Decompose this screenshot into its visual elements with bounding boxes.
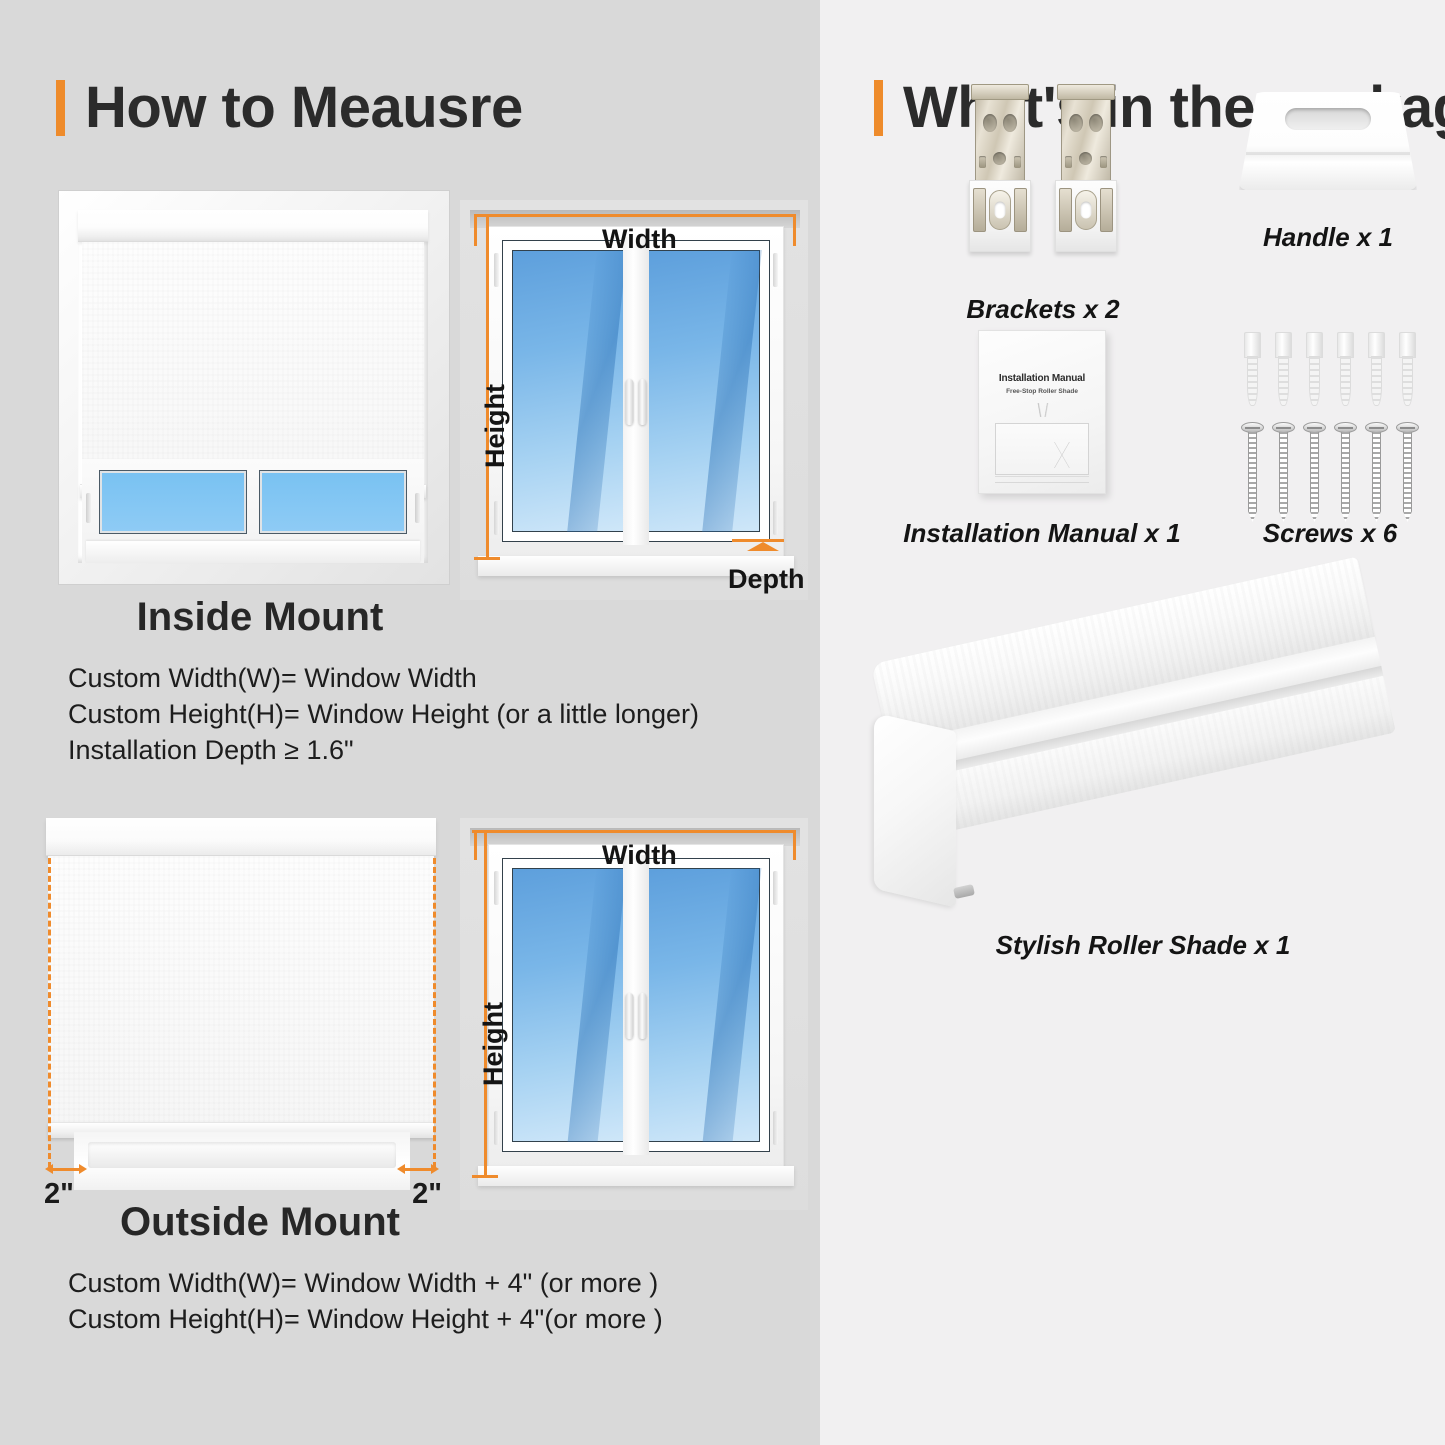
- screw-icon: [1368, 422, 1385, 522]
- window-hinge-bottom-right: [773, 1111, 778, 1145]
- window-sash-right: [260, 471, 406, 533]
- width-tick-left: [474, 214, 477, 246]
- window-handles: [626, 379, 647, 425]
- shade-fabric: [82, 242, 424, 484]
- shade-cassette: [46, 818, 436, 856]
- window-sash-left: [503, 241, 635, 541]
- wall-anchor-icon: [1399, 332, 1416, 406]
- instruction-line: Custom Height(H)= Window Height + 4"(or …: [68, 1301, 820, 1337]
- window-handles: [626, 993, 647, 1039]
- window-hinge-bottom-left: [494, 1111, 499, 1145]
- shade-fabric: [48, 856, 434, 1128]
- width-measure-line: [474, 830, 796, 833]
- depth-label: Depth: [728, 564, 805, 595]
- glass-reflection: [702, 868, 760, 1142]
- inside-mount-title: Inside Mount: [40, 595, 480, 640]
- bracket-icon: [969, 84, 1031, 252]
- width-tick-left: [474, 830, 477, 860]
- accent-bar: [56, 80, 65, 136]
- window-sash-left: [100, 471, 246, 533]
- height-tick-bottom: [474, 557, 500, 560]
- handle-label: Handle x 1: [1188, 222, 1445, 253]
- package-contents-panel: What's in the package: [838, 0, 1445, 1445]
- overhang-guide-left: [48, 858, 51, 1168]
- window-hinge-top-left: [494, 871, 499, 905]
- screws-label: Screws x 6: [1190, 518, 1445, 549]
- window-hinge-top-right: [773, 871, 778, 905]
- screw-icon: [1244, 422, 1261, 522]
- visible-window-glass: [82, 459, 424, 563]
- height-tick-top: [472, 830, 498, 833]
- bracket-icon: [1055, 84, 1117, 252]
- overhang-label-left: 2": [44, 1178, 74, 1211]
- window-sash-right: [637, 859, 769, 1151]
- window-sill: [478, 1166, 794, 1186]
- how-to-measure-panel: How to Meausre: [0, 0, 820, 1445]
- overhang-guide-right: [433, 858, 436, 1168]
- overhang-arrow-right: [404, 1168, 432, 1171]
- outside-mount-section: 2" 2": [0, 800, 820, 1337]
- inside-mount-section: Width Height Depth Inside Mount Custom W…: [0, 190, 820, 768]
- outside-mount-shade-illustration: 2" 2": [34, 818, 446, 1190]
- window-sash-right: [637, 241, 769, 541]
- window-hinge-top-left: [494, 253, 499, 287]
- instruction-line: Custom Width(W)= Window Width: [68, 660, 820, 696]
- wall-anchor-icon: [1306, 332, 1323, 406]
- infographic-page: How to Meausre: [0, 0, 1445, 1445]
- handle-icon: [1239, 92, 1417, 190]
- width-measure-line: [474, 214, 796, 217]
- panel-divider: [820, 0, 838, 1445]
- window-hinge-top-right: [773, 253, 778, 287]
- window-opening: [78, 210, 428, 563]
- outside-mount-instructions: Custom Width(W)= Window Width + 4" (or m…: [68, 1265, 820, 1337]
- anchors-group: [1190, 330, 1445, 406]
- manual-cover-scribble: [1009, 403, 1075, 417]
- instruction-line: Installation Depth ≥ 1.6": [68, 732, 820, 768]
- package-item-handle: Handle x 1: [1188, 92, 1445, 322]
- roller-end-pin: [953, 884, 975, 899]
- brackets-group: [898, 80, 1188, 252]
- screw-icon: [1275, 422, 1292, 522]
- glass-reflection: [702, 250, 761, 532]
- height-tick-bottom: [472, 1175, 498, 1178]
- depth-arrow: [747, 542, 779, 551]
- wall-anchor-icon: [1275, 332, 1292, 406]
- accent-bar: [874, 80, 883, 136]
- package-item-manual: Installation Manual Free-Stop Roller Sha…: [896, 330, 1188, 580]
- wall-anchor-icon: [1368, 332, 1385, 406]
- manual-cover-footer-text: [995, 471, 1089, 485]
- window-hinge-bottom-left: [494, 501, 499, 535]
- width-tick-right: [793, 830, 796, 860]
- inside-mount-shade-illustration: [58, 190, 450, 585]
- window-hinge-right: [415, 493, 420, 523]
- how-to-measure-heading: How to Meausre: [56, 74, 523, 141]
- brackets-label: Brackets x 2: [898, 294, 1188, 325]
- height-tick-top: [474, 214, 500, 217]
- inside-mount-measure-diagram: Width Height Depth: [460, 200, 808, 600]
- window-sash-left: [503, 859, 635, 1151]
- package-item-screws: Screws x 6: [1190, 330, 1445, 580]
- inside-mount-instructions: Custom Width(W)= Window Width Custom Hei…: [68, 660, 820, 768]
- wall-anchor-icon: [1337, 332, 1354, 406]
- instruction-line: Custom Height(H)= Window Height (or a li…: [68, 696, 820, 732]
- overhang-arrow-left: [52, 1168, 80, 1171]
- window-sill: [86, 541, 420, 563]
- shade-cassette: [78, 210, 428, 242]
- window-hinge-bottom-right: [773, 501, 778, 535]
- package-item-roller-shade: Stylish Roller Shade x 1: [858, 600, 1428, 1000]
- manual-label: Installation Manual x 1: [896, 518, 1188, 549]
- window-sill-lip: [88, 1142, 396, 1168]
- manual-icon: Installation Manual Free-Stop Roller Sha…: [978, 330, 1106, 494]
- outside-mount-measure-diagram: Width Height: [460, 818, 808, 1210]
- overhang-label-right: 2": [412, 1178, 442, 1211]
- height-label: Height: [480, 384, 511, 468]
- glass-reflection: [568, 868, 626, 1142]
- roller-end-cap: [874, 713, 956, 908]
- screw-icon: [1399, 422, 1416, 522]
- instruction-line: Custom Width(W)= Window Width + 4" (or m…: [68, 1265, 820, 1301]
- wall-anchor-icon: [1244, 332, 1261, 406]
- width-label: Width: [602, 224, 677, 255]
- screws-group: [1190, 422, 1445, 522]
- window-sill: [74, 1132, 410, 1190]
- height-label: Height: [478, 1002, 509, 1086]
- heading-text: How to Meausre: [85, 74, 523, 141]
- screw-icon: [1306, 422, 1323, 522]
- window-hinge-left: [86, 493, 91, 523]
- width-label: Width: [602, 840, 677, 871]
- package-item-brackets: Brackets x 2: [898, 80, 1188, 330]
- roller-shade-label: Stylish Roller Shade x 1: [858, 930, 1428, 961]
- screw-icon: [1337, 422, 1354, 522]
- width-tick-right: [793, 214, 796, 246]
- manual-cover-title: Installation Manual: [979, 373, 1105, 384]
- window-frame: [488, 226, 784, 558]
- manual-cover-figure: [995, 423, 1089, 475]
- glass-reflection: [568, 250, 627, 532]
- window-frame: [488, 844, 784, 1168]
- manual-cover-subtitle: Free-Stop Roller Shade: [979, 388, 1105, 395]
